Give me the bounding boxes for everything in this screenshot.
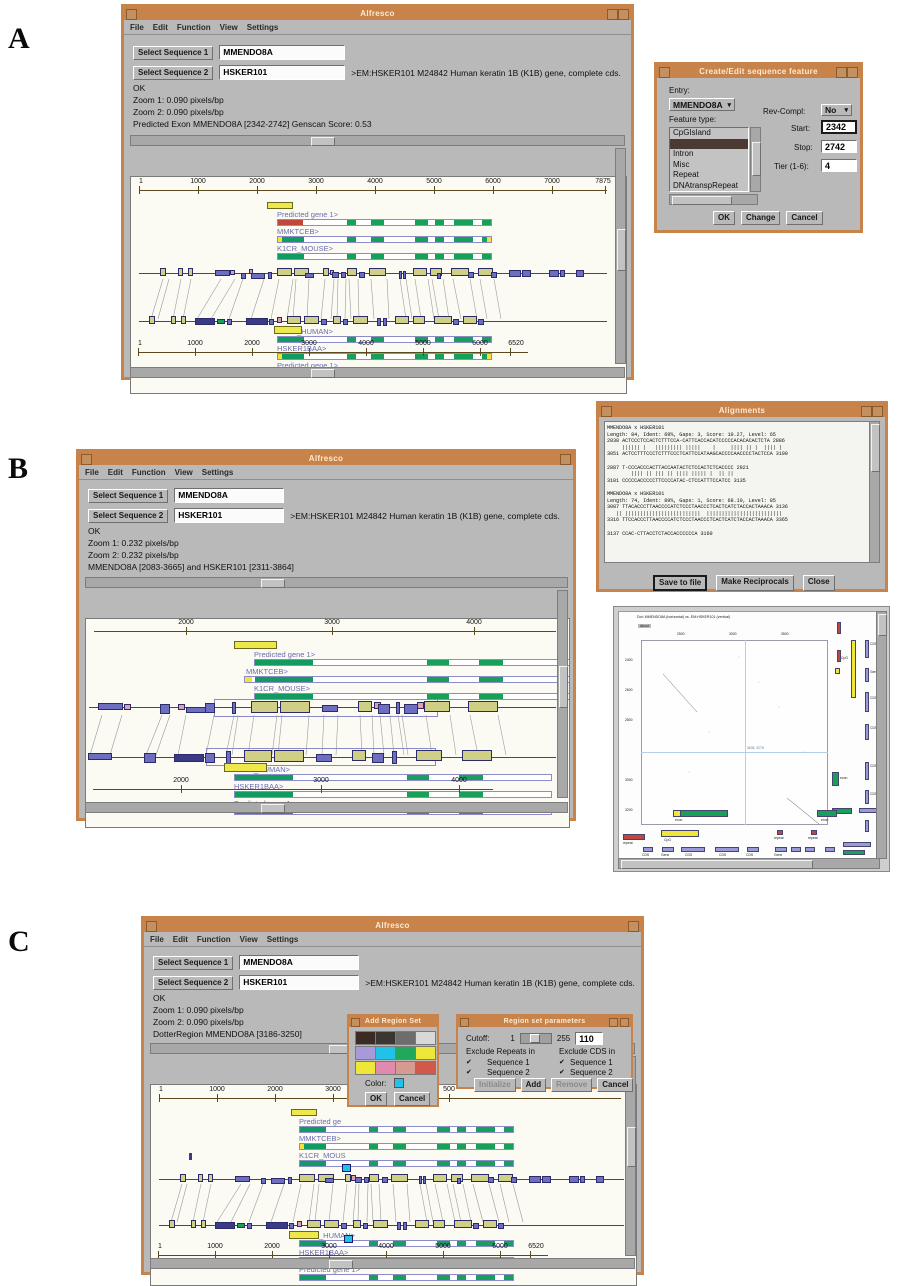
- window-title: Alfresco: [309, 452, 343, 465]
- status-ok: OK: [133, 82, 621, 94]
- window-title: Alignments: [719, 404, 766, 417]
- selected-region-marker-bottom[interactable]: [289, 1231, 319, 1239]
- menu-settings[interactable]: Settings: [247, 23, 279, 32]
- dotter-window[interactable]: Dot: MMENDO8A (horizontal) vs. EM:HSKER1…: [613, 606, 890, 872]
- checkbox-icon[interactable]: ✔: [466, 1069, 473, 1076]
- feature-list-vscrollbar[interactable]: [750, 127, 761, 192]
- maximize-icon[interactable]: [618, 9, 629, 20]
- revcompl-option-menu[interactable]: No ▾: [821, 104, 852, 116]
- color-swatch[interactable]: [355, 1061, 376, 1075]
- feature-list-hscrollbar[interactable]: [669, 194, 758, 205]
- ok-button[interactable]: OK: [365, 1092, 387, 1106]
- crosshair-horizontal: [641, 752, 828, 753]
- scroll-thumb[interactable]: [329, 1260, 353, 1269]
- revcompl-label: Rev-Compl:: [763, 107, 805, 116]
- scroll-thumb[interactable]: [627, 1127, 636, 1167]
- ok-button[interactable]: OK: [713, 211, 735, 225]
- menubar-b[interactable]: File Edit Function View Settings: [79, 465, 573, 480]
- sequence-1-input[interactable]: MMENDO8A: [174, 488, 284, 503]
- alignment-row: 2838 ACTCCCTCCACTCTTTCCA-CATTCACCACATCCC…: [607, 438, 873, 445]
- cutoff-min: 1: [510, 1034, 514, 1043]
- color-swatch[interactable]: [355, 1046, 376, 1060]
- alignment-row: 2887 T-CCCACCCACTTACCAATACTCTCCACTCTCACC…: [607, 465, 873, 472]
- feature-type-item[interactable]: Repeat: [670, 170, 748, 181]
- region-params-titlebar[interactable]: Region set parameters: [458, 1016, 631, 1027]
- titlebar-c[interactable]: Alfresco: [144, 919, 641, 932]
- panel-label-c: C: [8, 925, 30, 959]
- menu-view[interactable]: View: [240, 935, 258, 944]
- tier-input[interactable]: 4: [821, 159, 857, 172]
- alignment-block-2-stats: Length: 74, Ident: 89%, Gaps: 1, Score: …: [607, 498, 873, 505]
- dialog-title: Create/Edit sequence feature: [699, 65, 818, 78]
- window-menu-icon[interactable]: [126, 9, 137, 20]
- sequence-1-input[interactable]: MMENDO8A: [239, 955, 359, 970]
- menubar-c[interactable]: File Edit Function View Settings: [144, 932, 641, 947]
- scroll-thumb[interactable]: [621, 860, 813, 869]
- sequence-2-input[interactable]: HSKER101: [174, 508, 284, 523]
- menu-edit[interactable]: Edit: [153, 23, 168, 32]
- dialog-title: Region set parameters: [504, 1016, 586, 1027]
- alignment-row: 3316 TTCCACCCTTAACCCCATCTCCCTAACCCTCACTC…: [607, 517, 873, 524]
- chevron-down-icon: ▾: [844, 106, 848, 114]
- selected-color-swatch: [394, 1078, 404, 1088]
- titlebar-a[interactable]: Alfresco: [124, 7, 631, 20]
- menu-settings[interactable]: Settings: [267, 935, 299, 944]
- alignment-match-row: |||| || ||| || |||| ||||| | || ||: [607, 471, 873, 478]
- crosshair-coordinate-label: 3k35, 3276: [747, 746, 764, 750]
- feature-type-item[interactable]: DNAtranspRepeat: [670, 181, 748, 192]
- start-label: Start:: [791, 124, 810, 133]
- add-region-set-dialog[interactable]: Add Region Set Color: OK Cancel: [347, 1014, 439, 1107]
- select-sequence-1-button[interactable]: Select Sequence 1: [153, 956, 233, 970]
- window-menu-icon[interactable]: [351, 1018, 360, 1027]
- change-button[interactable]: Change: [741, 211, 780, 225]
- exclude-cds-seq1-label: Sequence 1: [570, 1058, 613, 1067]
- dotter-about-menu[interactable]: About: [637, 623, 652, 629]
- exclude-cds-seq2-label: Sequence 2: [570, 1068, 613, 1077]
- cancel-button[interactable]: Cancel: [786, 211, 822, 225]
- tier-label: Tier (1-6):: [774, 162, 809, 171]
- menu-view[interactable]: View: [220, 23, 238, 32]
- add-region-set-titlebar[interactable]: Add Region Set: [349, 1016, 437, 1027]
- zoom-1-status: Zoom 1: 0.090 pixels/bp: [133, 94, 621, 106]
- scroll-thumb[interactable]: [311, 137, 335, 146]
- revcompl-value: No: [825, 105, 836, 115]
- alignment-row: 3087 TTACACCCTTAACCCCATCTCCCTAACCCTCACTC…: [607, 504, 873, 511]
- exclude-repeats-seq2-label: Sequence 2: [487, 1068, 530, 1077]
- menu-file[interactable]: File: [150, 935, 164, 944]
- alignment-spacer: [607, 458, 873, 465]
- alfresco-window-a[interactable]: Alfresco File Edit Function View Setting…: [121, 4, 634, 380]
- alignments-window[interactable]: Alignments MMENDO8A x HSKER101 Length: 8…: [596, 401, 888, 592]
- menu-edit[interactable]: Edit: [108, 468, 123, 477]
- alignments-text-area[interactable]: MMENDO8A x HSKER101 Length: 84, Ident: 6…: [604, 421, 876, 563]
- sequence-2-description: >EM:HSKER101 M24842 Human keratin 1B (K1…: [365, 977, 635, 989]
- exclude-repeats-label: Exclude Repeats in: [466, 1047, 535, 1056]
- scroll-thumb[interactable]: [559, 666, 568, 708]
- bottom-ruler-b: 2000 3000 4000: [93, 780, 493, 794]
- feature-type-label: Feature type:: [669, 115, 716, 124]
- create-edit-feature-dialog[interactable]: Create/Edit sequence feature Entry: MMEN…: [654, 62, 863, 233]
- cutoff-slider[interactable]: [520, 1033, 552, 1044]
- exclude-repeats-seq1-label: Sequence 1: [487, 1058, 530, 1067]
- alignment-block-2-header: MMENDO8A x HSKER101: [607, 491, 873, 498]
- sequence-1-input[interactable]: MMENDO8A: [219, 45, 345, 60]
- scroll-thumb[interactable]: [311, 369, 335, 378]
- feature-type-listbox[interactable]: CpGIsland Exon Intron Misc Repeat DNAtra…: [669, 127, 749, 192]
- feature-status-line: Predicted Exon MMENDO8A [2342-2742] Gens…: [133, 118, 621, 130]
- color-swatch[interactable]: [355, 1031, 376, 1045]
- sequence-2-input[interactable]: HSKER101: [219, 65, 345, 80]
- maximize-icon[interactable]: [628, 921, 639, 932]
- minimize-icon[interactable]: [607, 9, 618, 20]
- color-swatch[interactable]: [415, 1031, 436, 1045]
- menu-file[interactable]: File: [85, 468, 99, 477]
- scroll-thumb[interactable]: [878, 614, 887, 636]
- dotter-hscrollbar[interactable]: [618, 858, 880, 869]
- alignment-row: 3051 ACTCCTTTCCCTCTTTCCCTCATTCCATAAGCACC…: [607, 451, 873, 458]
- color-swatch[interactable]: [395, 1046, 416, 1060]
- window-menu-icon[interactable]: [659, 67, 670, 78]
- remove-button[interactable]: Remove: [551, 1078, 592, 1092]
- start-input[interactable]: 2342: [821, 120, 857, 134]
- alignment-block-1-stats: Length: 84, Ident: 69%, Gaps: 3, Score: …: [607, 432, 873, 439]
- save-to-file-button[interactable]: Save to file: [653, 575, 707, 591]
- top-hscrollbar-a[interactable]: [130, 135, 625, 146]
- titlebar-b[interactable]: Alfresco: [79, 452, 573, 465]
- minimize-icon[interactable]: [836, 67, 847, 78]
- dotter-region-cursor-bottom[interactable]: [344, 1235, 353, 1243]
- bottom-hscrollbar-b[interactable]: [85, 802, 568, 813]
- window-menu-icon[interactable]: [460, 1018, 469, 1027]
- slider-handle[interactable]: [530, 1034, 540, 1043]
- cutoff-input[interactable]: 110: [575, 1032, 603, 1045]
- sequence-2-description: >EM:HSKER101 M24842 Human keratin 1B (K1…: [290, 510, 560, 522]
- crosshair-vertical: [745, 640, 746, 825]
- chevron-down-icon: ▾: [727, 101, 731, 109]
- feature-type-item-selected[interactable]: Exon: [670, 139, 748, 150]
- panel-label-a: A: [8, 22, 30, 56]
- color-swatch[interactable]: [415, 1046, 436, 1060]
- menu-function[interactable]: Function: [177, 23, 211, 32]
- color-swatch[interactable]: [375, 1046, 396, 1060]
- sequence-2-description: >EM:HSKER101 M24842 Human keratin 1B (K1…: [351, 67, 621, 79]
- menu-file[interactable]: File: [130, 23, 144, 32]
- scroll-thumb[interactable]: [617, 229, 626, 271]
- menu-view[interactable]: View: [175, 468, 193, 477]
- select-sequence-2-button[interactable]: Select Sequence 2: [88, 509, 168, 523]
- map-canvas-a[interactable]: 1 1000 2000 3000 4000 5000 6000 7000 787…: [130, 176, 627, 394]
- region-status-line: MMENDO8A [2083-3665] and HSKER101 [2311-…: [88, 561, 560, 573]
- sequence-2-input[interactable]: HSKER101: [239, 975, 359, 990]
- alfresco-window-b[interactable]: Alfresco File Edit Function View Setting…: [76, 449, 576, 821]
- color-palette[interactable]: [355, 1031, 434, 1075]
- bottom-ruler-a: 1 1000 2000 3000 4000 5000 6000 6520: [138, 343, 528, 357]
- color-label: Color:: [365, 1079, 386, 1088]
- window-title: Alfresco: [375, 919, 409, 932]
- alignment-spacer: [607, 484, 873, 491]
- menu-function[interactable]: Function: [132, 468, 166, 477]
- stop-input[interactable]: 2742: [821, 140, 857, 153]
- scroll-thumb[interactable]: [261, 804, 285, 813]
- window-menu-icon[interactable]: [146, 921, 157, 932]
- alignment-match-row: |||||| | ||||||||| ||||| | |||| || | |||…: [607, 445, 873, 452]
- dotter-vscrollbar[interactable]: [876, 611, 887, 859]
- make-reciprocals-button[interactable]: Make Reciprocals: [716, 575, 794, 591]
- alignment-match-row: || ||||||||||||||||||||||||| |||||||||||…: [607, 511, 873, 518]
- alignment-spacer: [607, 524, 873, 531]
- maximize-icon[interactable]: [847, 67, 858, 78]
- checkbox-icon[interactable]: ✔: [559, 1059, 566, 1066]
- dialog-title: Add Region Set: [365, 1016, 421, 1027]
- alignment-row: 3137 CCAC-CTTACCTCTACCACCCCCCA 3160: [607, 531, 873, 538]
- bottom-hscrollbar-c[interactable]: [150, 1258, 635, 1269]
- vscrollbar-a[interactable]: [615, 148, 626, 364]
- select-sequence-1-button[interactable]: Select Sequence 1: [88, 489, 168, 503]
- window-title: Alfresco: [360, 7, 394, 20]
- menu-edit[interactable]: Edit: [173, 935, 188, 944]
- map-canvas-b[interactable]: 2000 3000 4000 Predicted gene 1> MMKTCEB…: [85, 618, 570, 828]
- zoom-1-status: Zoom 1: 0.232 pixels/bp: [88, 537, 560, 549]
- scroll-thumb[interactable]: [261, 579, 285, 588]
- alignment-row: 3101 CCCCCACCCCCTTCCCCATAC-CTCCATTTCCATC…: [607, 478, 873, 485]
- maximize-icon[interactable]: [872, 406, 883, 417]
- window-menu-icon[interactable]: [601, 406, 612, 417]
- dotplot-area[interactable]: [641, 640, 828, 825]
- panel-label-b: B: [8, 452, 28, 486]
- stop-label: Stop:: [794, 143, 813, 152]
- initialize-button[interactable]: Initialize: [474, 1078, 516, 1092]
- vscrollbar-b[interactable]: [557, 590, 568, 798]
- minimize-icon[interactable]: [861, 406, 872, 417]
- alignment-block-1-header: MMENDO8A x HSKER101: [607, 425, 873, 432]
- selected-region-marker-bottom[interactable]: [274, 326, 302, 334]
- menu-function[interactable]: Function: [197, 935, 231, 944]
- status-ok: OK: [153, 992, 635, 1004]
- select-sequence-2-button[interactable]: Select Sequence 2: [153, 976, 233, 990]
- select-sequence-1-button[interactable]: Select Sequence 1: [133, 46, 213, 60]
- exclude-cds-label: Exclude CDS in: [559, 1047, 615, 1056]
- color-swatch[interactable]: [395, 1031, 416, 1045]
- scroll-thumb[interactable]: [672, 196, 732, 205]
- scroll-thumb[interactable]: [871, 424, 880, 472]
- feature-type-item[interactable]: Intron: [670, 149, 748, 160]
- selected-region-marker-bottom[interactable]: [224, 763, 267, 772]
- menubar-a[interactable]: File Edit Function View Settings: [124, 20, 631, 35]
- region-set-parameters-dialog[interactable]: Region set parameters Cutoff: 1 255 110 …: [456, 1014, 633, 1089]
- add-button[interactable]: Add: [521, 1078, 547, 1092]
- cutoff-max: 255: [557, 1034, 570, 1043]
- cutoff-label: Cutoff:: [466, 1034, 489, 1043]
- color-swatch[interactable]: [395, 1061, 416, 1075]
- checkbox-icon[interactable]: ✔: [559, 1069, 566, 1076]
- entry-label: Entry:: [669, 86, 690, 95]
- checkbox-icon[interactable]: ✔: [466, 1059, 473, 1066]
- maximize-icon[interactable]: [620, 1018, 629, 1027]
- status-ok: OK: [88, 525, 560, 537]
- window-menu-icon[interactable]: [81, 454, 92, 465]
- homology-connectors-a: [131, 177, 626, 393]
- feature-type-item[interactable]: CpGIsland: [670, 128, 748, 139]
- top-hscrollbar-b[interactable]: [85, 577, 568, 588]
- select-sequence-2-button[interactable]: Select Sequence 2: [133, 66, 213, 80]
- color-swatch[interactable]: [375, 1061, 396, 1075]
- menu-settings[interactable]: Settings: [202, 468, 234, 477]
- maximize-icon[interactable]: [560, 454, 571, 465]
- close-button[interactable]: Close: [803, 575, 835, 591]
- minimize-icon[interactable]: [609, 1018, 618, 1027]
- bottom-hscrollbar-a[interactable]: [130, 367, 625, 378]
- alignments-titlebar[interactable]: Alignments: [599, 404, 885, 417]
- color-swatch[interactable]: [415, 1061, 436, 1075]
- zoom-2-status: Zoom 2: 0.090 pixels/bp: [133, 106, 621, 118]
- feature-type-item[interactable]: Misc: [670, 160, 748, 171]
- feature-dialog-titlebar[interactable]: Create/Edit sequence feature: [657, 65, 860, 78]
- cancel-button[interactable]: Cancel: [597, 1078, 633, 1092]
- zoom-2-status: Zoom 2: 0.232 pixels/bp: [88, 549, 560, 561]
- alignments-vscrollbar[interactable]: [869, 421, 880, 563]
- entry-value: MMENDO8A: [673, 100, 723, 110]
- cancel-button[interactable]: Cancel: [394, 1092, 430, 1106]
- scroll-thumb[interactable]: [752, 142, 761, 176]
- entry-option-menu[interactable]: MMENDO8A ▾: [669, 98, 735, 111]
- dotter-title: Dot: MMENDO8A (horizontal) vs. EM:HSKER1…: [637, 615, 730, 619]
- color-swatch[interactable]: [375, 1031, 396, 1045]
